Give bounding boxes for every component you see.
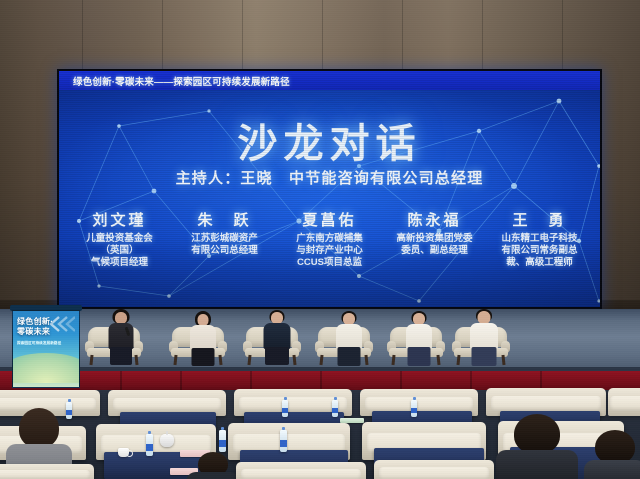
audience-sofa [608, 388, 640, 416]
water-bottle [411, 400, 417, 417]
audience-attendee [186, 452, 240, 479]
water-bottle [332, 400, 338, 417]
podium-banner: 绿色创新· 零碳未来 探索园区可持续发展新路径 [12, 310, 80, 388]
podium-subtitle: 探索园区可持续发展新路径 [17, 341, 77, 346]
water-bottle [282, 400, 288, 417]
stage-person-3 [334, 311, 364, 367]
stage-person-4 [404, 311, 434, 367]
water-bottle [146, 434, 153, 456]
conference-photo: 绿色创新·零碳未来——探索园区可持续发展新路径 沙龙对话 主持人：王晓 中节能咨… [0, 0, 640, 479]
stage-person-2 [262, 310, 292, 367]
audience-sofa [0, 464, 94, 479]
audience-sofa [374, 460, 494, 479]
coffee-mug [118, 448, 129, 457]
stage-person-1 [188, 311, 218, 367]
audience-attendee [496, 414, 578, 479]
water-bottle [280, 430, 287, 452]
stage-person-moderator [106, 309, 136, 367]
audience-attendee [584, 430, 640, 479]
audience-area [0, 390, 640, 479]
teapot [160, 434, 174, 447]
audience-sofa [236, 462, 366, 479]
stage-person-5 [468, 309, 500, 367]
podium-title: 绿色创新· 零碳未来 [17, 317, 53, 337]
led-screen: 绿色创新·零碳未来——探索园区可持续发展新路径 沙龙对话 主持人：王晓 中节能咨… [57, 69, 602, 309]
water-bottle [219, 430, 226, 452]
